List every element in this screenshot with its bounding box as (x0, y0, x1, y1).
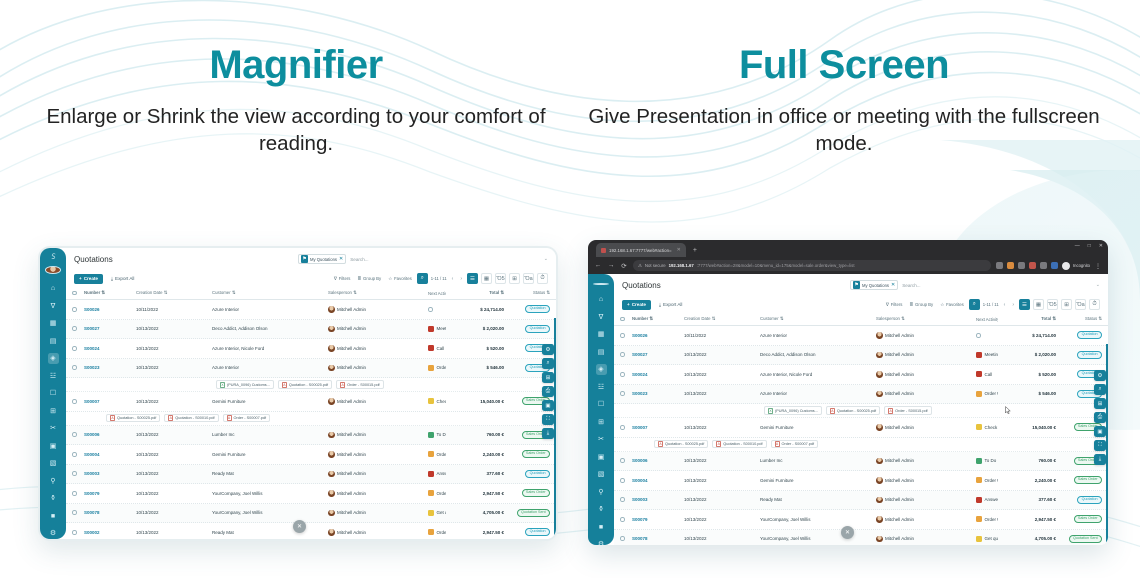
sidebar-item-invoice[interactable]: ▧ (596, 469, 607, 480)
sidebar-item-apps[interactable]: ■ (596, 522, 607, 533)
pager-next-button[interactable]: › (458, 276, 464, 282)
activity-label: Meeting (985, 352, 999, 357)
user-avatar[interactable] (593, 283, 609, 285)
checkbox-icon (72, 452, 77, 457)
cell-number: S00023 (84, 365, 136, 370)
view-pivot[interactable]: ⊞ (509, 273, 520, 284)
sidebar-item-home[interactable]: ⌂ (48, 283, 59, 294)
attachment-chip[interactable]: AOrder - S00007.pdf (771, 440, 819, 449)
activity-label: Order Upsell (985, 478, 999, 483)
cell-status: Quotation (504, 325, 550, 333)
group-by-button[interactable]: ≣ Group By (907, 300, 935, 310)
export-all-label: Export All (663, 302, 682, 307)
create-button-label: Create (84, 276, 98, 281)
cell-creation-date: 10/13/2022 (136, 491, 212, 496)
pager-next-button[interactable]: › (1010, 302, 1016, 308)
cell-customer: Ready Mat (212, 471, 328, 476)
chevron-down-icon[interactable]: ⌄ (544, 256, 548, 262)
view-switcher: ☰▦Ὄ5⊞Ὄa⏱ (467, 273, 548, 284)
rail-image-button[interactable]: ▣ (542, 400, 554, 411)
close-icon[interactable]: ✕ (891, 282, 895, 288)
mouse-cursor-icon (1005, 406, 1011, 415)
sidebar-item-filter[interactable]: ∇ (596, 312, 607, 323)
search-facet-my-quotations[interactable]: ⚑ My Quotations ✕ (850, 280, 898, 290)
avatar (876, 516, 883, 523)
attachment-label: Order - S00015.pdf (895, 409, 928, 413)
view-list[interactable]: ☰ (467, 273, 478, 284)
cell-salesperson: Mitchell Admin (328, 345, 428, 352)
column-header-next-activity[interactable]: Next Activity (428, 291, 446, 296)
attachment-chip[interactable]: X(PURA_0096) Customs... (216, 380, 274, 389)
status-badge: Sales Order (1074, 476, 1102, 484)
salesperson-name: Mitchell Admin (885, 536, 914, 541)
pdf-icon: A (716, 441, 721, 447)
status-badge: Sales Order (522, 450, 550, 458)
view-activity[interactable]: ⏱ (1089, 299, 1100, 310)
checkbox-icon (72, 491, 77, 496)
rail-image-button[interactable]: ▣ (1094, 426, 1106, 437)
sidebar-item-sales[interactable]: ◈ (48, 353, 59, 364)
favorites-button[interactable]: ☆ Favorites (386, 274, 414, 284)
row-checkbox[interactable] (72, 399, 84, 404)
row-checkbox[interactable] (620, 425, 632, 430)
search-area: ⚑ My Quotations ✕ Search... ⌄ (298, 254, 548, 264)
column-header-total[interactable]: Total ⇅ (998, 316, 1056, 322)
avatar (328, 451, 335, 458)
status-badge: Sales Order (1074, 515, 1102, 523)
status-badge: Quotation (525, 305, 550, 313)
activity-label: Order Upsell (437, 491, 447, 496)
row-checkbox[interactable] (72, 510, 84, 515)
row-checkbox[interactable] (72, 346, 84, 351)
table-row[interactable]: S0002310/13/2022Azure InteriorMitchell A… (66, 359, 556, 379)
table-row[interactable]: S0002710/13/2022Deco Addict, Addison Ols… (614, 346, 1108, 366)
cell-creation-date: 10/13/2022 (684, 517, 760, 522)
group-by-button[interactable]: ≣ Group By (355, 274, 383, 284)
cell-creation-date: 10/13/2022 (136, 399, 212, 404)
activity-upsell-icon (428, 451, 434, 457)
magnifier-button[interactable]: ⌕ (417, 273, 428, 284)
column-header-status[interactable]: Status ⇅ (1056, 316, 1102, 322)
sidebar-item-inventory[interactable]: ☐ (596, 399, 607, 410)
table-row[interactable]: S0007810/13/2022YourCompany, Joel Willis… (614, 530, 1108, 546)
group-icon: ≣ (357, 276, 361, 282)
table-row[interactable]: S0000410/13/2022Gemini FurnitureMitchell… (66, 445, 556, 465)
pdf-icon: A (340, 382, 345, 388)
minimize-button[interactable]: — (1075, 243, 1080, 249)
rail-fullscreen-button[interactable]: ⛶ (1094, 440, 1106, 451)
checkbox-icon (620, 536, 625, 541)
rail-accent-bar (1106, 344, 1108, 545)
cell-customer: Azure Interior (760, 391, 876, 396)
attachment-chip[interactable]: AOrder - S00015.pdf (336, 380, 384, 389)
column-header-creation-date[interactable]: Creation Date ⇅ (684, 316, 760, 322)
status-badge: Quotation (525, 528, 550, 536)
star-icon: ☆ (940, 302, 944, 308)
flag-icon: ⚑ (301, 255, 308, 263)
magnifier-button[interactable]: ⌕ (969, 299, 980, 310)
checkbox-icon (620, 317, 625, 322)
attachment-chip[interactable]: AQuotation - S00010.pdf (164, 414, 218, 423)
favorites-button[interactable]: ☆ Favorites (938, 300, 966, 310)
rail-settings-button[interactable]: ⚙ (542, 344, 554, 355)
checkbox-icon (620, 425, 625, 430)
cell-next-activity: Check delivery requirements (428, 398, 446, 404)
sidebar-item-employees[interactable]: ⚱ (48, 493, 59, 504)
table-row[interactable]: S0000310/13/2022Ready MatMitchell AdminA… (66, 465, 556, 485)
attachment-label: Order - S00007.pdf (234, 416, 267, 420)
column-header-total[interactable]: Total ⇅ (446, 290, 504, 296)
table-row[interactable]: S0002710/13/2022Deco Addict, Addison Ols… (66, 320, 556, 340)
table-row[interactable]: S0002610/11/2022Azure InteriorMitchell A… (66, 300, 556, 320)
cell-salesperson: Mitchell Admin (876, 477, 976, 484)
rail-fullscreen-button[interactable]: ⛶ (542, 414, 554, 425)
salesperson-name: Mitchell Admin (885, 497, 914, 502)
status-badge: Quotation (525, 470, 550, 478)
cell-creation-date: 10/11/2022 (684, 333, 760, 338)
table-row[interactable]: S0002410/13/2022Azure Interior, Nicole F… (614, 365, 1108, 385)
cell-number: S00024 (632, 372, 684, 377)
close-overlay-button[interactable]: ✕ (841, 526, 854, 539)
salesperson-name: Mitchell Admin (885, 458, 914, 463)
rail-zoom-button[interactable]: ⌕ (542, 358, 554, 369)
table-row[interactable]: S0000210/13/2022Ready MatMitchell AdminO… (66, 523, 556, 539)
cell-next-activity (976, 333, 998, 338)
avatar (876, 352, 883, 359)
share-icon[interactable] (996, 262, 1003, 269)
reload-button[interactable]: ⟳ (620, 262, 628, 270)
cell-status: Quotation (1056, 331, 1102, 339)
table-row[interactable]: S0007910/13/2022YourCompany, Joel Willis… (66, 484, 556, 504)
chevron-down-icon[interactable]: ⌄ (1096, 282, 1100, 288)
search-facet-label: My Quotations (862, 283, 889, 288)
browser-menu-button[interactable]: ⋮ (1094, 262, 1102, 270)
activity-label: To Do (437, 432, 447, 437)
table-row[interactable]: S0007910/13/2022YourCompany, Joel Willis… (614, 510, 1108, 530)
activity-label: Get quote confirmation (985, 536, 999, 541)
salesperson-name: Mitchell Admin (885, 425, 914, 430)
view-graph[interactable]: Ὄa (523, 273, 534, 284)
sidebar-item-inventory[interactable]: ☐ (48, 388, 59, 399)
company-logo[interactable] (44, 252, 63, 261)
view-pivot[interactable]: ⊞ (1061, 299, 1072, 310)
new-tab-button[interactable]: + (689, 245, 701, 257)
cell-next-activity: Order Upsell (428, 451, 446, 457)
cell-number: S00002 (84, 530, 136, 535)
sidebar-item-notes[interactable]: ▣ (48, 441, 59, 452)
table-row[interactable]: S0000710/13/2022Gemini FurnitureMitchell… (66, 392, 556, 412)
activity-clock-icon (428, 307, 433, 312)
table-row[interactable]: S0000610/13/2022Lumber IncMitchell Admin… (614, 452, 1108, 472)
row-checkbox[interactable] (72, 471, 84, 476)
cell-creation-date: 10/13/2022 (684, 391, 760, 396)
column-header-customer[interactable]: Customer ⇅ (760, 316, 876, 322)
avatar (876, 332, 883, 339)
close-overlay-button[interactable]: ✕ (293, 520, 306, 533)
export-all-button[interactable]: ⤓ Export All (655, 300, 686, 310)
pager-prev-button[interactable]: ‹ (1002, 302, 1008, 308)
checkbox-icon (72, 432, 77, 437)
table-row[interactable]: S0007810/13/2022YourCompany, Joel Willis… (66, 504, 556, 524)
cell-status: Quotation (504, 528, 550, 536)
close-button[interactable]: ✕ (1099, 243, 1103, 249)
rail-print-button[interactable]: ⎙ (1094, 412, 1106, 423)
table-row[interactable]: S0000710/13/2022Gemini FurnitureMitchell… (614, 418, 1108, 438)
select-all-checkbox[interactable] (72, 291, 84, 296)
rail-grid-button[interactable]: ⊞ (1094, 398, 1106, 409)
avatar (876, 497, 883, 504)
cell-customer: Deco Addict, Addison Olson (212, 326, 328, 331)
filters-button[interactable]: ∇ Filters (332, 274, 353, 284)
sidebar-item-tools[interactable]: ✂ (596, 434, 607, 445)
filter-icon: ∇ (886, 302, 889, 308)
pager-prev-button[interactable]: ‹ (450, 276, 456, 282)
activity-label: Order Upsell (437, 530, 447, 535)
create-button[interactable]: + Create (622, 300, 651, 310)
table-row[interactable]: S0002610/11/2022Azure InteriorMitchell A… (614, 326, 1108, 346)
attachment-chip[interactable]: AOrder - S00007.pdf (223, 414, 271, 423)
row-checkbox[interactable] (72, 530, 84, 535)
filters-button[interactable]: ∇ Filters (884, 300, 905, 310)
create-button[interactable]: + Create (74, 274, 103, 284)
view-calendar[interactable]: Ὄ5 (495, 273, 506, 284)
avatar (876, 391, 883, 398)
rail-zoom-button[interactable]: ⌕ (1094, 384, 1106, 395)
activity-question-icon (976, 497, 982, 503)
row-checkbox[interactable] (72, 452, 84, 457)
salesperson-name: Mitchell Admin (885, 517, 914, 522)
sidebar-item-invoice[interactable]: ▧ (48, 458, 59, 469)
cell-creation-date: 10/13/2022 (136, 452, 212, 457)
cell-status: Quotation Sent (1056, 535, 1102, 543)
row-checkbox[interactable] (620, 478, 632, 483)
pdf-icon: A (830, 408, 835, 414)
sidebar-item-config[interactable]: ⚙ (48, 528, 59, 539)
sidebar-item-sales[interactable]: ◈ (596, 364, 607, 375)
rail-export-button[interactable]: ⤓ (542, 428, 554, 439)
row-checkbox[interactable] (72, 365, 84, 370)
activity-label: Answer questions (437, 471, 447, 476)
attachment-chip[interactable]: AQuotation - S00025.pdf (826, 406, 880, 415)
cell-customer: Azure Interior, Nicole Ford (760, 372, 876, 377)
url-host: 192.168.1.67 (669, 263, 694, 268)
app-sidebar-laptop: ⌂∇▦▤◈☳☐⊞✂▣▧⚲⚱■⚙ (588, 274, 614, 545)
view-kanban[interactable]: ▦ (481, 273, 492, 284)
cell-salesperson: Mitchell Admin (876, 536, 976, 543)
attachment-chip[interactable]: AQuotation - S00025.pdf (654, 440, 708, 449)
rail-export-button[interactable]: ⤓ (1094, 454, 1106, 465)
sidebar-item-apps[interactable]: ■ (48, 511, 59, 522)
sidebar-item-documents[interactable]: ▤ (596, 347, 607, 358)
view-kanban[interactable]: ▦ (1033, 299, 1044, 310)
activity-label: Meeting (437, 326, 447, 331)
sidebar-item-filter[interactable]: ∇ (48, 301, 59, 312)
salesperson-name: Mitchell Admin (337, 326, 366, 331)
row-checkbox[interactable] (620, 391, 632, 396)
row-checkbox[interactable] (72, 432, 84, 437)
extension-icon[interactable] (1040, 262, 1047, 269)
activity-call-icon (428, 345, 434, 351)
floating-action-rail: ⚙⌕⊞⎙▣⛶⤓ (1094, 370, 1106, 465)
row-checkbox[interactable] (620, 536, 632, 541)
attachment-label: Quotation - S00010.pdf (175, 416, 214, 420)
sidebar-item-home[interactable]: ⌂ (596, 294, 607, 305)
cell-creation-date: 10/13/2022 (684, 478, 760, 483)
maximize-button[interactable]: □ (1088, 243, 1091, 249)
table-row[interactable]: S0000410/13/2022Gemini FurnitureMitchell… (614, 471, 1108, 491)
cell-next-activity: Order Upsell (428, 529, 446, 535)
user-avatar[interactable] (45, 266, 61, 274)
row-checkbox[interactable] (620, 333, 632, 338)
quotations-table[interactable]: Number ⇅Creation Date ⇅Customer ⇅Salespe… (66, 287, 556, 539)
cell-next-activity: Check delivery requirements (976, 424, 998, 430)
right-text-column: Full Screen Give Presentation in office … (584, 44, 1104, 158)
cell-salesperson: Mitchell Admin (876, 371, 976, 378)
rail-print-button[interactable]: ⎙ (542, 386, 554, 397)
table-row[interactable]: S0000610/13/2022Lumber IncMitchell Admin… (66, 426, 556, 446)
browser-tab[interactable]: 192.168.1.67:7777/web#action= ✕ (596, 243, 686, 257)
column-header-salesperson[interactable]: Salesperson ⇅ (328, 290, 428, 296)
activity-label: Order Upsell (437, 452, 447, 457)
checkbox-icon (72, 346, 77, 351)
view-activity[interactable]: ⏱ (537, 273, 548, 284)
attachment-chip[interactable]: AQuotation - S00025.pdf (278, 380, 332, 389)
cell-total: 4,705.00 € (446, 510, 504, 515)
row-checkbox[interactable] (620, 372, 632, 377)
pdf-icon: A (168, 415, 173, 421)
row-checkbox[interactable] (620, 497, 632, 502)
attachment-label: Quotation - S00025.pdf (837, 409, 876, 413)
cell-total: 2,947.50 € (998, 517, 1056, 522)
table-row[interactable]: S0000310/13/2022Ready MatMitchell AdminA… (614, 491, 1108, 511)
row-checkbox[interactable] (72, 307, 84, 312)
sidebar-item-contacts[interactable]: ⚲ (48, 476, 59, 487)
avatar (328, 529, 335, 536)
salesperson-name: Mitchell Admin (337, 491, 366, 496)
download-icon: ⤓ (659, 302, 661, 307)
search-facet-my-quotations[interactable]: ⚑ My Quotations ✕ (298, 254, 346, 264)
column-header-creation-date[interactable]: Creation Date ⇅ (136, 290, 212, 296)
cell-salesperson: Mitchell Admin (328, 326, 428, 333)
sidebar-item-calendar[interactable]: ▦ (596, 329, 607, 340)
sidebar-item-notes[interactable]: ▣ (596, 452, 607, 463)
table-header-row: Number ⇅Creation Date ⇅Customer ⇅Salespe… (66, 287, 556, 300)
cell-customer: Ready Mat (212, 530, 328, 535)
column-header-number[interactable]: Number ⇅ (84, 290, 136, 296)
left-headline: Magnifier (36, 44, 556, 87)
page-title: Quotations (74, 255, 113, 264)
column-header-salesperson[interactable]: Salesperson ⇅ (876, 316, 976, 322)
cell-status: Sales Order (1056, 476, 1102, 484)
extension-icon[interactable] (1051, 262, 1058, 269)
attachment-chip[interactable]: AOrder - S00015.pdf (884, 406, 932, 415)
browser-url-row: ← → ⟳ ⚠ Not secure 192.168.1.67 :7777/we… (588, 257, 1108, 274)
cell-number: S00003 (84, 471, 136, 476)
attachment-chip[interactable]: AQuotation - S00010.pdf (712, 440, 766, 449)
row-checkbox[interactable] (72, 326, 84, 331)
column-header-customer[interactable]: Customer ⇅ (212, 290, 328, 296)
column-header-status[interactable]: Status ⇅ (504, 290, 550, 296)
left-text-column: Magnifier Enlarge or Shrink the view acc… (36, 44, 556, 158)
cell-number: S00003 (632, 497, 684, 502)
address-bar[interactable]: ⚠ Not secure 192.168.1.67 :7777/web#acti… (633, 260, 991, 271)
sidebar-item-employees[interactable]: ⚱ (596, 504, 607, 515)
odoo-app-tablet: ⌂∇▦▤◈☳☐⊞✂▣▧⚲⚱■⚙ Quotations ⚑ My Quotatio… (40, 248, 556, 539)
avatar (328, 510, 335, 517)
view-list[interactable]: ☰ (1019, 299, 1030, 310)
cell-number: S00079 (84, 491, 136, 496)
activity-label: Order Upsell (437, 365, 447, 370)
cell-creation-date: 10/13/2022 (684, 425, 760, 430)
sidebar-item-settings-grid[interactable]: ⊞ (48, 406, 59, 417)
cell-creation-date: 10/11/2022 (136, 307, 212, 312)
table-row[interactable]: S0002410/13/2022Azure Interior, Nicole F… (66, 339, 556, 359)
cell-customer: Azure Interior (212, 307, 328, 312)
checkbox-icon (620, 517, 625, 522)
cell-creation-date: 10/13/2022 (136, 432, 212, 437)
incognito-indicator[interactable]: Incognito (1062, 262, 1090, 270)
export-all-button[interactable]: ⤓ Export All (107, 274, 138, 284)
back-button[interactable]: ← (594, 262, 602, 269)
avatar (328, 345, 335, 352)
attachment-chip[interactable]: AQuotation - S00025.pdf (106, 414, 160, 423)
cell-salesperson: Mitchell Admin (328, 510, 428, 517)
status-badge: Sales Order (522, 489, 550, 497)
sidebar-item-documents[interactable]: ▤ (48, 336, 59, 347)
view-calendar[interactable]: Ὄ5 (1047, 299, 1058, 310)
quotations-table[interactable]: Number ⇅Creation Date ⇅Customer ⇅Salespe… (614, 313, 1108, 545)
sidebar-item-contacts[interactable]: ⚲ (596, 487, 607, 498)
activity-todo-icon (976, 458, 982, 464)
extension-icon[interactable] (1007, 262, 1014, 269)
column-header-next-activity[interactable]: Next Activity (976, 317, 998, 322)
extension-icon[interactable] (1029, 262, 1036, 269)
forward-button[interactable]: → (607, 262, 615, 269)
attachment-chip[interactable]: X(PURA_0096) Customs... (764, 406, 822, 415)
row-checkbox[interactable] (620, 517, 632, 522)
view-graph[interactable]: Ὄa (1075, 299, 1086, 310)
right-subhead: Give Presentation in office or meeting w… (584, 103, 1104, 158)
salesperson-name: Mitchell Admin (337, 307, 366, 312)
row-checkbox[interactable] (620, 352, 632, 357)
close-icon[interactable]: ✕ (677, 247, 681, 253)
cell-creation-date: 10/13/2022 (684, 497, 760, 502)
column-header-number[interactable]: Number ⇅ (632, 316, 684, 322)
cell-total: 4,705.00 € (998, 536, 1056, 541)
sidebar-item-settings-grid[interactable]: ⊞ (596, 417, 607, 428)
sidebar-item-reports[interactable]: ☳ (596, 382, 607, 393)
select-all-checkbox[interactable] (620, 317, 632, 322)
table-row[interactable]: S0002310/13/2022Azure InteriorMitchell A… (614, 385, 1108, 405)
activity-label: Call (985, 372, 993, 377)
rail-grid-button[interactable]: ⊞ (542, 372, 554, 383)
close-icon[interactable]: ✕ (339, 256, 343, 262)
sidebar-item-tools[interactable]: ✂ (48, 423, 59, 434)
sidebar-item-reports[interactable]: ☳ (48, 371, 59, 382)
cell-total: $ 2,020.00 (446, 326, 504, 331)
search-input[interactable]: Search... (350, 257, 540, 262)
sidebar-item-calendar[interactable]: ▦ (48, 318, 59, 329)
search-input[interactable]: Search... (902, 283, 1092, 288)
extension-icon[interactable] (1018, 262, 1025, 269)
checkbox-icon (72, 510, 77, 515)
row-checkbox[interactable] (620, 458, 632, 463)
sidebar-item-config[interactable]: ⚙ (596, 539, 607, 545)
row-checkbox[interactable] (72, 491, 84, 496)
cell-number: S00007 (632, 425, 684, 430)
rail-settings-button[interactable]: ⚙ (1094, 370, 1106, 381)
checkbox-icon (620, 352, 625, 357)
